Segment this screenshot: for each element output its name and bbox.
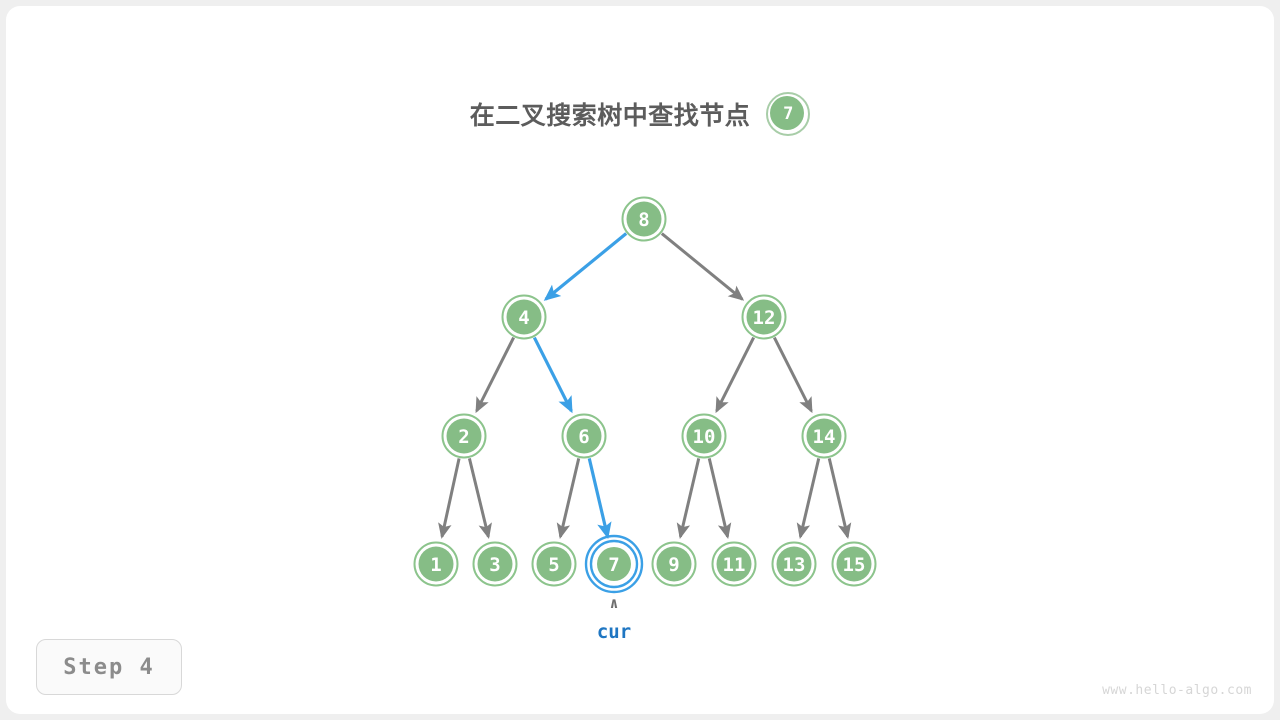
node-value-label: 3 xyxy=(489,554,500,576)
node-value-label: 7 xyxy=(608,554,619,576)
tree-edge xyxy=(546,234,626,300)
watermark: www.hello-algo.com xyxy=(1102,683,1252,698)
tree-edge xyxy=(680,458,698,536)
tree-edge xyxy=(560,458,578,536)
tree-edge xyxy=(717,338,754,411)
tree-edge xyxy=(589,458,607,536)
node-value-label: 4 xyxy=(518,307,529,329)
tree-node-11[interactable]: 11 xyxy=(713,543,756,586)
tree-node-7[interactable]: 7 xyxy=(586,536,642,592)
node-value-label: 15 xyxy=(843,554,866,576)
node-value-label: 12 xyxy=(753,307,776,329)
illustration-canvas: 在二叉搜索树中查找节点 7 841226101413579111315 ∧ xyxy=(6,6,1274,714)
tree-edge xyxy=(829,458,847,536)
step-indicator: Step 4 xyxy=(36,639,182,695)
tree-node-13[interactable]: 13 xyxy=(773,543,816,586)
tree-edge xyxy=(662,234,742,300)
step-label: Step 4 xyxy=(63,655,154,680)
tree-node-14[interactable]: 14 xyxy=(803,415,846,458)
tree-node-5[interactable]: 5 xyxy=(533,543,576,586)
tree-node-12[interactable]: 12 xyxy=(743,296,786,339)
node-value-label: 5 xyxy=(548,554,559,576)
binary-search-tree-diagram: 841226101413579111315 ∧ cur xyxy=(6,6,1274,714)
tree-node-10[interactable]: 10 xyxy=(683,415,726,458)
tree-node-4[interactable]: 4 xyxy=(503,296,546,339)
pointer-label-cur: cur xyxy=(597,621,631,643)
tree-edge xyxy=(774,338,811,411)
node-value-label: 13 xyxy=(783,554,806,576)
node-value-label: 10 xyxy=(693,426,716,448)
tree-edge xyxy=(469,458,488,536)
node-value-label: 2 xyxy=(458,426,469,448)
tree-node-3[interactable]: 3 xyxy=(474,543,517,586)
node-value-label: 1 xyxy=(430,554,441,576)
pointer-layer: ∧ cur xyxy=(597,594,631,643)
tree-edge xyxy=(442,458,459,536)
node-value-label: 6 xyxy=(578,426,589,448)
node-value-label: 8 xyxy=(638,209,649,231)
tree-node-6[interactable]: 6 xyxy=(563,415,606,458)
tree-edge xyxy=(709,458,727,536)
badge-label: 7 xyxy=(783,106,793,123)
tree-edge xyxy=(477,338,514,411)
page-root: 在二叉搜索树中查找节点 7 841226101413579111315 ∧ xyxy=(0,0,1280,720)
tree-edge xyxy=(800,458,818,536)
node-value-label: 9 xyxy=(668,554,679,576)
tree-node-1[interactable]: 1 xyxy=(415,543,458,586)
tree-node-2[interactable]: 2 xyxy=(443,415,486,458)
node-value-label: 14 xyxy=(813,426,836,448)
edges-layer xyxy=(442,234,848,537)
tree-edge xyxy=(534,338,571,411)
tree-node-8[interactable]: 8 xyxy=(623,198,666,241)
tree-node-15[interactable]: 15 xyxy=(833,543,876,586)
pointer-caret-icon: ∧ xyxy=(609,594,618,612)
node-value-label: 11 xyxy=(723,554,746,576)
tree-node-9[interactable]: 9 xyxy=(653,543,696,586)
